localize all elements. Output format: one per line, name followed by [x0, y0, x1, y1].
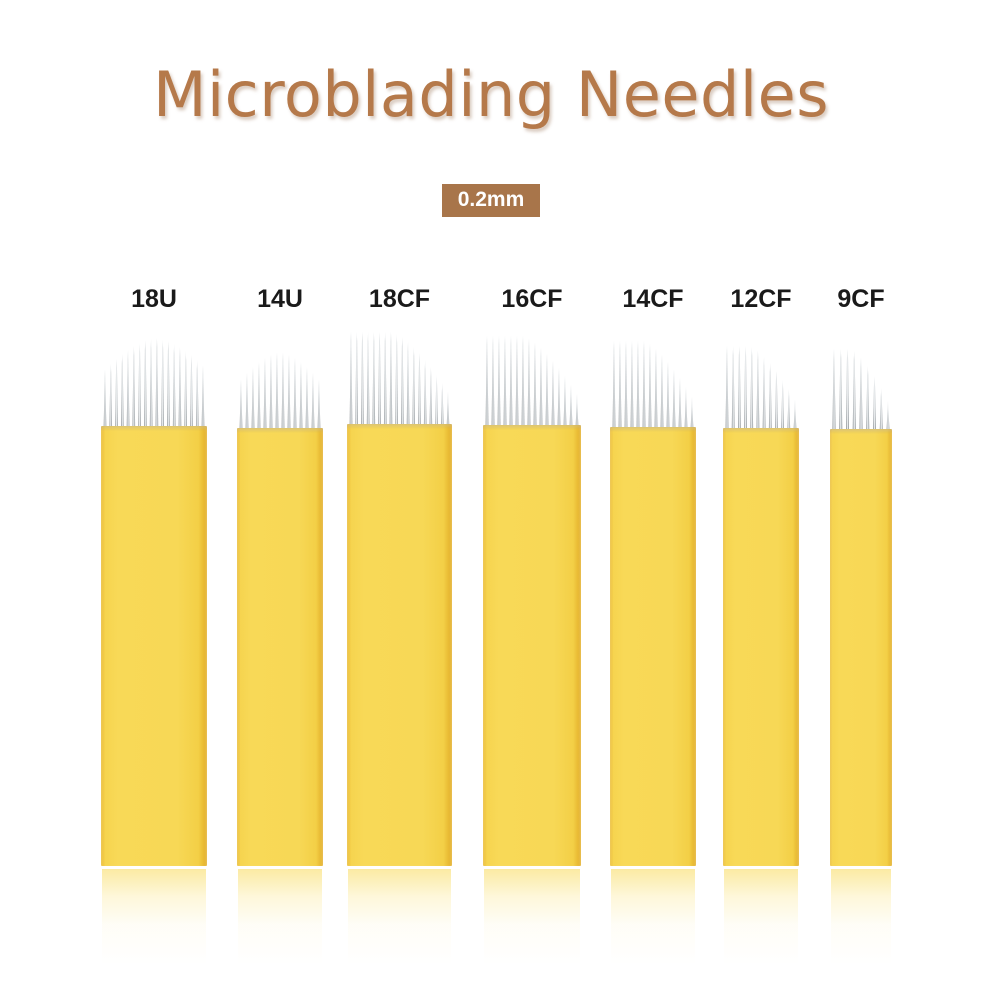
handle-top-shading	[237, 428, 323, 433]
needle-blade-18cf	[347, 332, 452, 428]
needle-blade-14u	[237, 352, 323, 432]
handle-top-shading	[347, 424, 452, 429]
needle-blade-12cf	[723, 346, 799, 432]
needle-handle-14cf	[610, 427, 696, 866]
needle-label-16cf: 16CF	[483, 285, 581, 314]
handle-reflection-14u	[238, 869, 322, 965]
needle-label-14u: 14U	[237, 285, 323, 314]
needle-item-14cf: 14CF	[610, 0, 696, 982]
needle-label-18u: 18U	[101, 285, 207, 314]
handle-reflection-9cf	[831, 869, 891, 965]
handle-top-shading	[483, 425, 581, 430]
handle-reflection-14cf	[611, 869, 695, 965]
handle-reflection-18u	[102, 869, 206, 965]
needle-item-14u: 14U	[237, 0, 323, 982]
handle-reflection-12cf	[724, 869, 798, 965]
needle-item-16cf: 16CF	[483, 0, 581, 982]
needle-item-18cf: 18CF	[347, 0, 452, 982]
needle-handle-12cf	[723, 428, 799, 866]
handle-top-shading	[723, 428, 799, 433]
needle-handle-18u	[101, 426, 207, 866]
needle-handle-9cf	[830, 429, 892, 866]
needle-blade-16cf	[483, 336, 581, 429]
needle-item-18u: 18U	[101, 0, 207, 982]
handle-top-shading	[101, 426, 207, 431]
needle-blade-9cf	[830, 349, 892, 433]
handle-top-shading	[830, 429, 892, 434]
handle-reflection-16cf	[484, 869, 580, 965]
needle-label-12cf: 12CF	[723, 285, 799, 314]
needle-item-9cf: 9CF	[830, 0, 892, 982]
handle-reflection-18cf	[348, 869, 451, 965]
needle-handle-16cf	[483, 425, 581, 866]
needle-row: 18U14U18CF16CF14CF12CF9CF	[0, 0, 982, 982]
needle-item-12cf: 12CF	[723, 0, 799, 982]
handle-top-shading	[610, 427, 696, 432]
needle-label-14cf: 14CF	[610, 285, 696, 314]
needle-blade-18u	[101, 338, 207, 430]
needle-label-18cf: 18CF	[347, 285, 452, 314]
needle-handle-14u	[237, 428, 323, 866]
needle-blade-14cf	[610, 341, 696, 431]
needle-label-9cf: 9CF	[830, 285, 892, 314]
product-image-canvas: Microblading Needles 0.2mm 18U14U18CF16C…	[0, 0, 982, 982]
needle-handle-18cf	[347, 424, 452, 866]
